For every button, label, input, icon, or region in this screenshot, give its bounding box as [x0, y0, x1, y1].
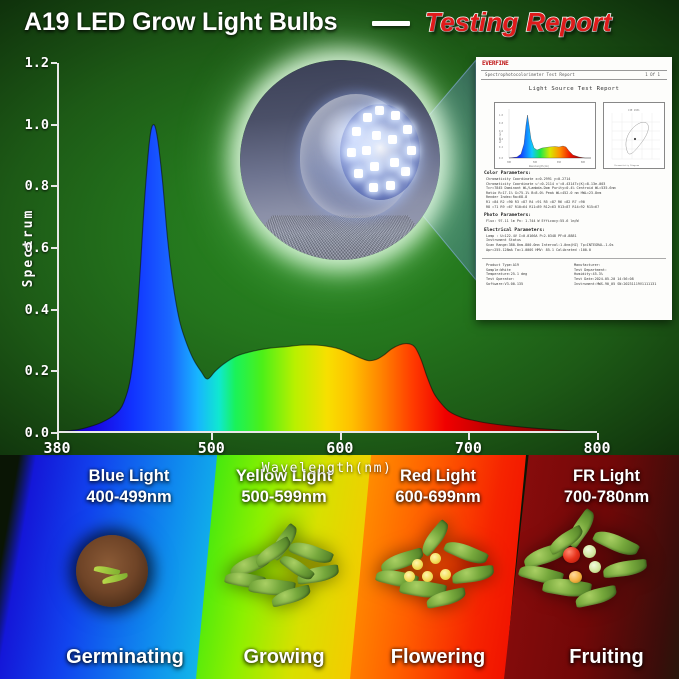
- svg-text:650: 650: [557, 161, 562, 164]
- report-spd-chart: 1.00.80.6 0.40.20.0 380500 650800 Wavele…: [494, 102, 596, 169]
- page-title-accent: Testing Report: [425, 7, 612, 38]
- test-report-document: EVERFINE Spectrophotocolorimeter Test Re…: [476, 57, 672, 320]
- y-tick: [51, 370, 57, 372]
- report-footer-right-row: Humidity:45.3%: [574, 272, 603, 276]
- band-yellow-light: Yellow Light 500-599nm Growing: [196, 455, 372, 679]
- report-parameter-row: Chromaticity Coordinate u'=0.2114 v'=0.4…: [486, 182, 605, 186]
- report-logo-text: EVERFINE: [482, 60, 509, 67]
- band-blue-light: Blue Light 400-499nm Germinating: [0, 455, 220, 679]
- svg-text:380: 380: [507, 161, 512, 164]
- y-tick: [51, 185, 57, 187]
- report-header-right: 1 Of 1: [645, 72, 660, 77]
- report-parameter-row: Scan Range:380.0nm-800.0nm Interval:1.0n…: [486, 243, 614, 247]
- report-parameter-row: Chromaticity Coordinate x=0.2991 y=0.271…: [486, 177, 570, 181]
- y-tick-label: 0.0: [3, 425, 49, 441]
- growth-stage-bands: Blue Light 400-499nm Germinating Yellow …: [0, 455, 679, 679]
- plant-growing: [219, 527, 349, 615]
- y-tick: [51, 124, 57, 126]
- report-parameter-row: Render Index:Ra=68.8: [486, 195, 527, 199]
- report-divider: [482, 258, 666, 259]
- report-footer-right-row: Instrument:HWS-90_05 SN:20231119V1111131: [574, 282, 656, 286]
- bulb-photo: [240, 60, 440, 260]
- svg-text:800: 800: [581, 161, 586, 164]
- report-parameter-row: R1 =84 R2 =90 R3 =87 R4 =91 R5 =87 R6 =8…: [486, 200, 585, 204]
- y-axis-line: [57, 63, 59, 433]
- x-tick-label: 380: [43, 439, 70, 457]
- report-parameter-row: Apr=255.128mA Ta=1.000S HMV: 85.1 Calibr…: [486, 248, 591, 252]
- page-title: A19 LED Grow Light Bulbs: [24, 8, 337, 37]
- y-tick-label: 0.8: [3, 178, 49, 194]
- band-fr-light: FR Light 700-780nm Fruiting: [504, 455, 679, 679]
- report-doc-title: Light Source Test Report: [476, 86, 672, 92]
- plant-flowering: [372, 525, 504, 617]
- report-footer-left-row: Test Operator:: [486, 277, 515, 281]
- stage-label-fruiting: Fruiting: [504, 646, 679, 669]
- report-section-heading: Photo Parameters:: [484, 213, 531, 218]
- band-label-range: 700-780nm: [504, 488, 679, 507]
- plant-fruiting: [517, 517, 657, 617]
- report-parameter-row: Lamp : U=122.4V I=0.0166A P=2.0348 PF=0.…: [486, 234, 577, 238]
- report-header-left: Spectrophotocolorimeter Test Report: [485, 72, 575, 77]
- svg-text:Chromaticity Diagram: Chromaticity Diagram: [614, 164, 640, 167]
- report-logo: EVERFINE: [482, 60, 509, 67]
- infographic-root: A19 LED Grow Light Bulbs Testing Report: [0, 0, 679, 679]
- report-section-heading: Color Parameters:: [484, 171, 531, 176]
- y-tick-label: 1.2: [3, 55, 49, 71]
- x-axis-title: Wavelength(nm): [57, 461, 597, 476]
- stage-label-flowering: Flowering: [350, 646, 526, 669]
- report-parameter-row: Instrument Status: [486, 238, 521, 242]
- svg-text:0.2: 0.2: [499, 146, 504, 149]
- report-parameter-row: Flux: 97.11 lm Pn: 1.744 W Efficacy:55.6…: [486, 219, 579, 223]
- report-section-heading: Electrical Parameters:: [484, 228, 545, 233]
- report-footer-left-row: Sample:White: [486, 268, 511, 272]
- y-tick-label: 0.2: [3, 363, 49, 379]
- band-label-range: 500-599nm: [196, 488, 372, 507]
- plant-seedling: [76, 535, 148, 607]
- report-footer-left-row: Software:V3.00.135: [486, 282, 523, 286]
- header: A19 LED Grow Light Bulbs Testing Report: [0, 0, 679, 48]
- report-parameter-row: Tcr=7845 Dominant WL/Lambda.Dom Purity=0…: [486, 186, 616, 190]
- x-axis-line: [57, 431, 597, 433]
- led-array-icon: [340, 104, 420, 200]
- stage-label-growing: Growing: [196, 646, 372, 669]
- y-tick-label: 1.0: [3, 117, 49, 133]
- report-cie-diagram: CIE 1931 Chromaticity Diagram: [603, 102, 665, 169]
- svg-text:500: 500: [533, 161, 538, 164]
- y-tick-label: 0.4: [3, 302, 49, 318]
- report-footer-right-row: Test Date:2024-05-20 14:56:08: [574, 277, 634, 281]
- svg-text:CIE 1931: CIE 1931: [628, 109, 640, 112]
- x-tick-label: 700: [455, 439, 482, 457]
- title-divider-dash: [372, 21, 410, 26]
- x-tick-label: 600: [326, 439, 353, 457]
- svg-text:0.0: 0.0: [499, 157, 504, 160]
- band-red-light: Red Light 600-699nm Flowering: [350, 455, 526, 679]
- svg-text:Spectrum: Spectrum: [499, 132, 502, 143]
- report-footer-left-row: Temperature:25.1 deg: [486, 272, 527, 276]
- report-footer-right-row: Manufacturer:: [574, 263, 601, 267]
- svg-text:1.0: 1.0: [499, 114, 504, 117]
- y-tick: [51, 309, 57, 311]
- y-tick: [51, 62, 57, 64]
- band-label-range: 600-699nm: [350, 488, 526, 507]
- x-tick-label: 800: [583, 439, 610, 457]
- y-tick-label: 0.6: [3, 240, 49, 256]
- report-parameter-row: R8 =71 R9 =67 R10=64 R11=89 R12=63 R13=8…: [486, 205, 599, 209]
- report-parameter-row: Ratio R=17.1% G=75.1% B=8.0% Peak WL=452…: [486, 191, 601, 195]
- report-footer-left-row: Product Type:A19: [486, 263, 519, 267]
- report-footer-right-row: Test Department:: [574, 268, 607, 272]
- svg-text:Wavelength(nm): Wavelength(nm): [529, 165, 549, 168]
- svg-text:0.8: 0.8: [499, 122, 504, 125]
- y-tick: [51, 247, 57, 249]
- x-tick-label: 500: [198, 439, 225, 457]
